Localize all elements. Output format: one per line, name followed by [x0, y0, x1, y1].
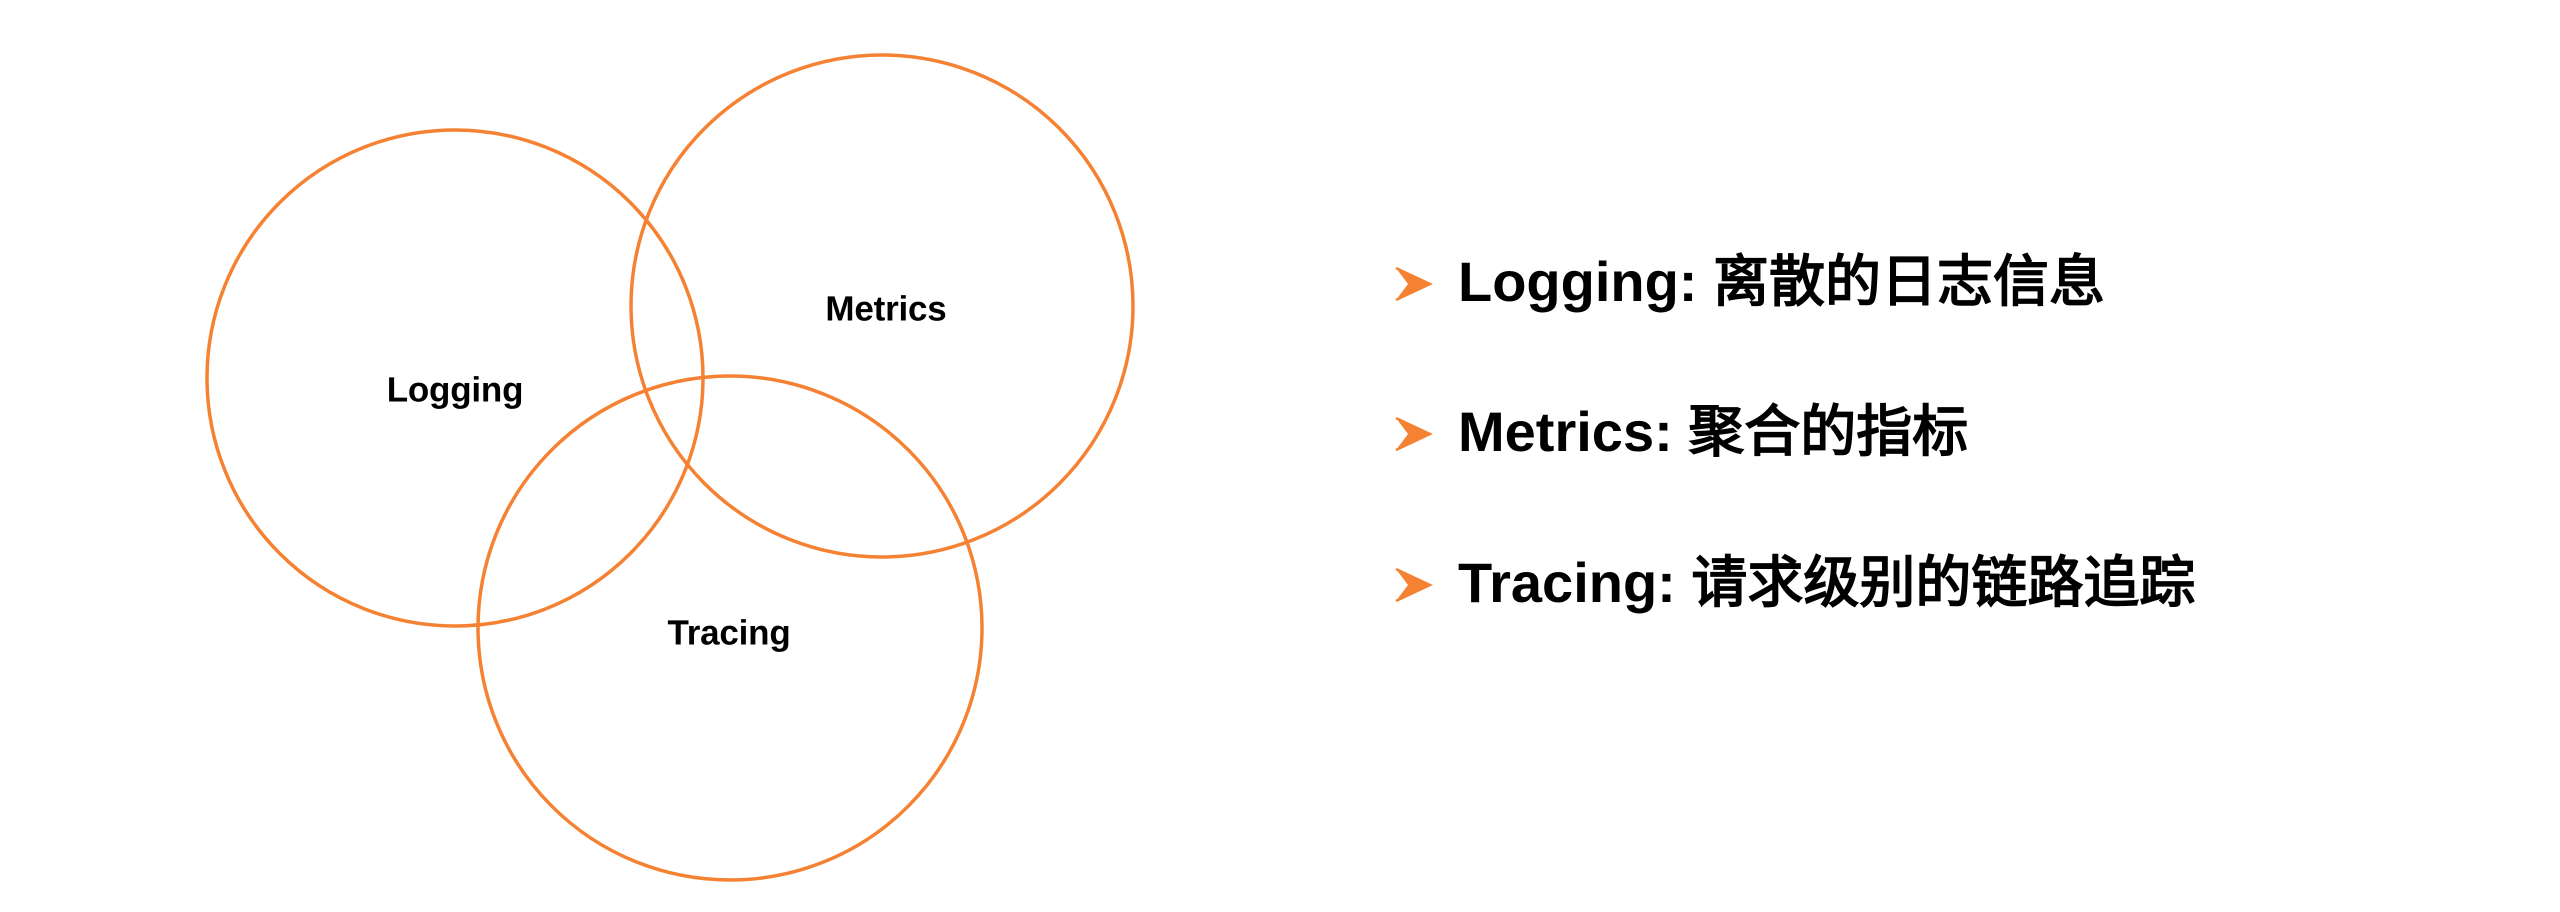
arrow-right-triangle-icon	[1390, 411, 1436, 457]
venn-circles-svg	[0, 0, 1320, 912]
slide-canvas: Logging Metrics Tracing Logging: 离散的日志信息	[0, 0, 2560, 912]
bullet-text-tracing: Tracing: 请求级别的链路追踪	[1458, 551, 2195, 615]
bullet-text-metrics: Metrics: 聚合的指标	[1458, 400, 1968, 464]
venn-label-tracing: Tracing	[667, 616, 790, 651]
bullet-text-logging: Logging: 离散的日志信息	[1458, 250, 2105, 314]
venn-diagram: Logging Metrics Tracing	[0, 0, 1320, 912]
list-item: Logging: 离散的日志信息	[1390, 250, 2510, 314]
list-item: Metrics: 聚合的指标	[1390, 400, 2510, 464]
venn-label-logging: Logging	[387, 373, 524, 408]
venn-label-metrics: Metrics	[825, 292, 946, 327]
list-item: Tracing: 请求级别的链路追踪	[1390, 551, 2510, 615]
arrow-right-triangle-icon	[1390, 261, 1436, 307]
definition-bullet-list: Logging: 离散的日志信息 Metrics: 聚合的指标 Tracing:…	[1390, 250, 2510, 615]
arrow-right-triangle-icon	[1390, 562, 1436, 608]
